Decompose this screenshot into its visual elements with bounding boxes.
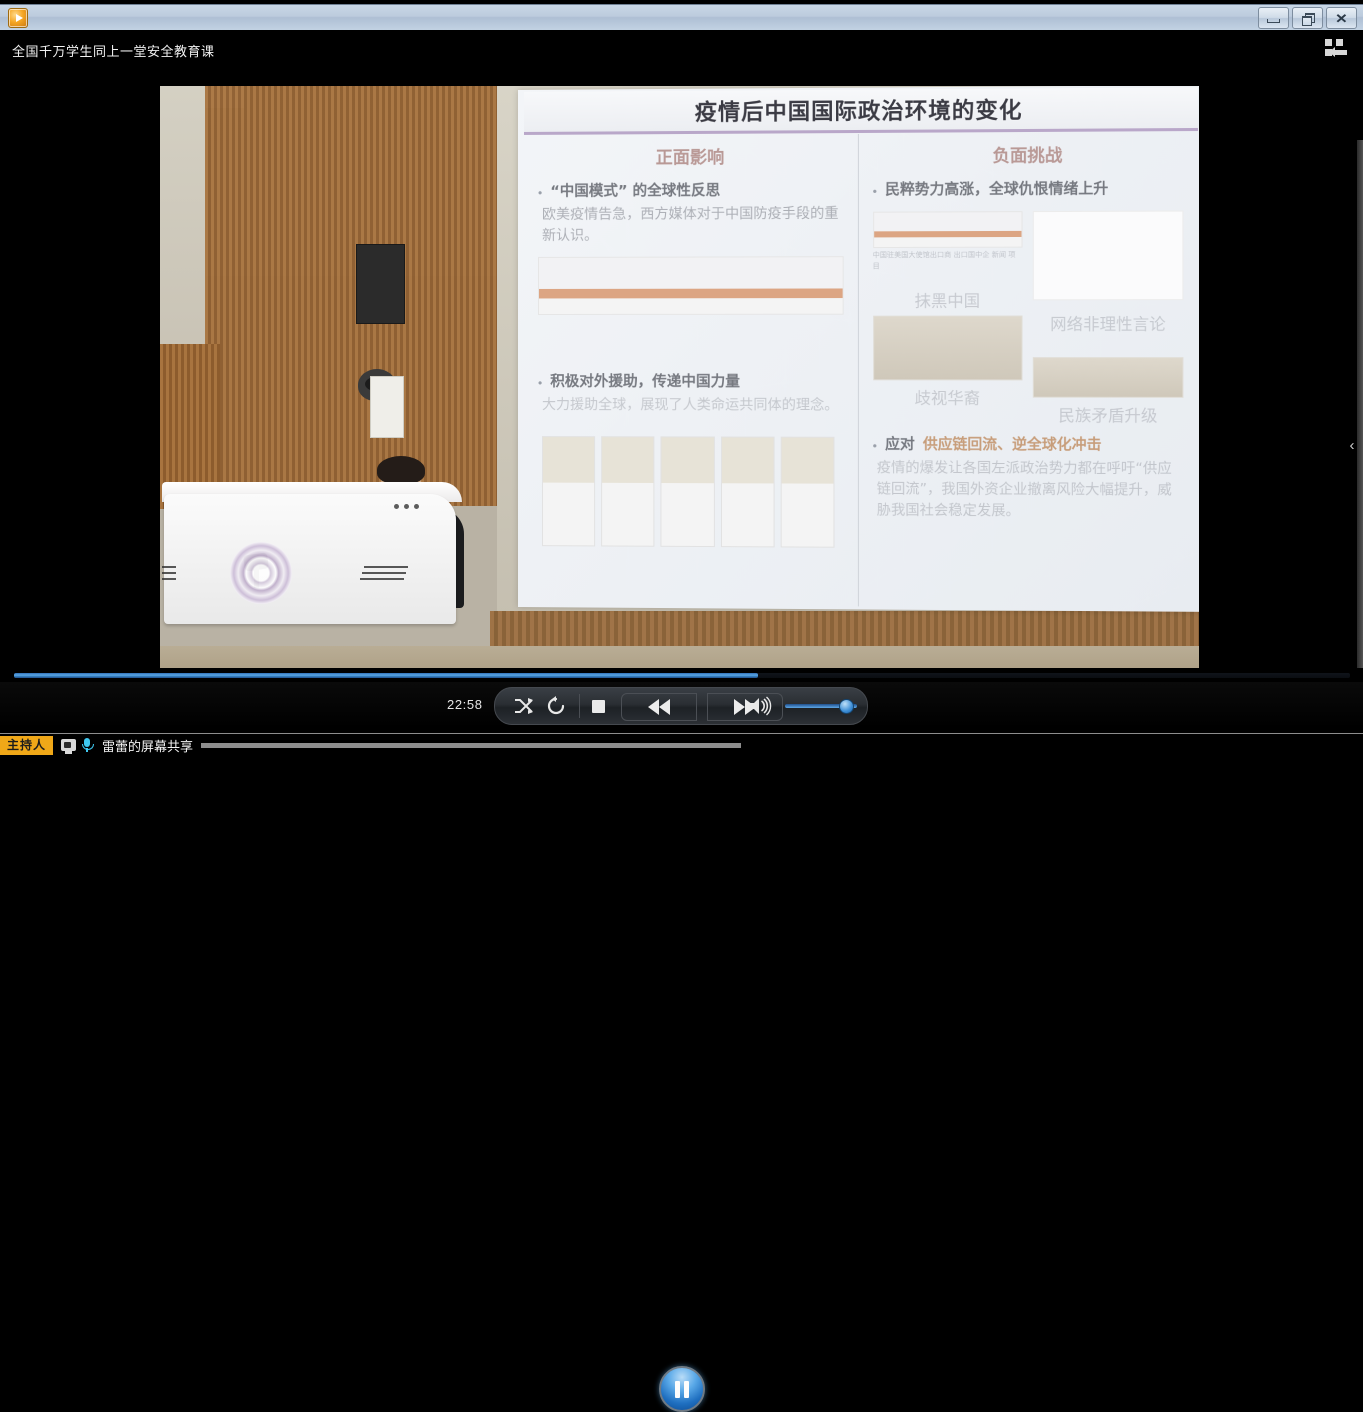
play-pause-button[interactable]	[659, 1366, 705, 1412]
slide-right-bullet-1: • 民粹势力高涨，全球仇恨情绪上升	[873, 180, 1184, 202]
slide-columns: 正面影响 • “中国模式” 的全球性反思 欧美疫情告急，西方媒体对于中国防疫手段…	[524, 132, 1198, 609]
stop-icon[interactable]	[587, 697, 609, 715]
seek-track[interactable]	[14, 673, 1350, 678]
video-stage[interactable]: 疫情后中国国际政治环境的变化 正面影响 • “中国模式” 的全球性反思 欧美疫情…	[0, 70, 1363, 668]
screenshot-block	[1033, 211, 1184, 301]
slide-title: 疫情后中国国际政治环境的变化	[695, 93, 1023, 127]
university-emblem	[230, 542, 292, 604]
share-label: 雷蕾的屏幕共享	[102, 736, 193, 755]
shuffle-glyph	[514, 697, 534, 715]
podium-stripes-left	[162, 566, 178, 584]
podium-group	[164, 446, 464, 668]
wall-wainscot	[490, 611, 1199, 651]
slide-right-media-right: 网络非理性言论 民族矛盾升级	[1033, 211, 1184, 427]
mic-stem-shape	[86, 748, 88, 752]
slide-right-bullet-2-detail: 疫情的爆发让各国左派政治势力都在呼吁“供应链回流”，我国外资企业撤离风险大幅提升…	[877, 458, 1184, 523]
photo-card	[542, 436, 595, 546]
slide-left-bullet-2: • 积极对外援助，传递中国力量	[538, 373, 843, 393]
shuffle-icon[interactable]	[513, 696, 535, 716]
play-triangle-shape	[16, 14, 23, 22]
rewind-icon	[648, 699, 670, 715]
seek-progress-fill	[14, 673, 758, 678]
media-header-bar: 全国千万学生同上一堂安全教育课	[0, 30, 1363, 70]
chevron-left-icon[interactable]: ‹	[1345, 432, 1359, 458]
slide-left-column: 正面影响 • “中国模式” 的全球性反思 欧美疫情告急，西方媒体对于中国防疫手段…	[524, 134, 858, 606]
slide-left-bullet-1: • “中国模式” 的全球性反思	[538, 182, 843, 203]
arrow-left-shape	[1334, 50, 1347, 55]
slide-right-caption-3: 歧视华裔	[873, 384, 1023, 408]
share-bar-strip	[201, 743, 741, 748]
bullet-dot-icon: •	[873, 436, 877, 456]
monitor-share-icon	[61, 739, 76, 751]
repeat-glyph	[546, 696, 566, 716]
photo-card	[721, 436, 775, 547]
slide-right-caption-1: 抹黑中国	[873, 287, 1023, 311]
wall-control-plate	[370, 376, 404, 438]
volume-icon[interactable]	[747, 695, 773, 717]
projected-slide: 疫情后中国国际政治环境的变化 正面影响 • “中国模式” 的全球性反思 欧美疫情…	[518, 86, 1199, 612]
seek-bar-area[interactable]	[0, 668, 1363, 682]
microphone-icon	[81, 738, 93, 752]
photo-block	[873, 316, 1023, 381]
slide-left-photo-strip	[542, 436, 834, 548]
controls-divider	[579, 694, 580, 718]
close-button[interactable]: ✕	[1326, 7, 1357, 29]
repeat-icon[interactable]	[545, 696, 567, 716]
slide-right-media-left: 中国驻美国大使馆出口商 出口国中企 新闻 项目 抹黑中国 歧视华裔	[873, 211, 1023, 426]
close-icon: ✕	[1335, 12, 1348, 25]
slide-left-bullet-1-text: “中国模式” 的全球性反思	[550, 182, 720, 202]
window-controls: ✕	[1258, 7, 1357, 29]
slide-right-column: 负面挑战 • 民粹势力高涨，全球仇恨情绪上升 中国驻美国大使馆出口商 出口国中企…	[858, 132, 1198, 609]
photo-card	[780, 437, 834, 548]
slide-right-bullet-1-text: 民粹势力高涨，全球仇恨情绪上升	[885, 180, 1108, 201]
slide-right-caption-4: 民族矛盾升级	[1033, 402, 1184, 427]
slide-right-media-row-1: 中国驻美国大使馆出口商 出口国中企 新闻 项目 抹黑中国 歧视华裔 网络非理性言…	[873, 211, 1184, 427]
presenter-hair	[377, 456, 425, 484]
slide-right-bullet-2-accent: 供应链回流、逆全球化冲击	[923, 436, 1102, 456]
podium-body	[164, 494, 456, 624]
restore-icon	[1302, 13, 1314, 24]
photo-block	[1033, 357, 1184, 398]
slide-left-bullet-2-detail: 大力援助全球，展现了人类命运共同体的理念。	[542, 395, 843, 417]
slide-left-heading: 正面影响	[538, 142, 843, 169]
video-frame[interactable]: 疫情后中国国际政治环境的变化 正面影响 • “中国模式” 的全球性反思 欧美疫情…	[160, 86, 1199, 668]
transport-controls-group	[494, 687, 868, 725]
screen-share-bar: 主持人 雷蕾的屏幕共享	[0, 734, 1363, 756]
host-badge: 主持人	[0, 736, 53, 755]
time-elapsed-readout: 22:58	[447, 697, 483, 712]
slide-right-heading: 负面挑战	[873, 140, 1184, 167]
minimize-icon	[1267, 19, 1280, 23]
news-banner	[873, 211, 1023, 248]
photo-card	[601, 436, 654, 547]
monitor-screen-shape	[64, 742, 71, 748]
podium-control-dots	[394, 504, 440, 512]
wall-left	[160, 86, 206, 386]
slide-right-caption-2: 网络非理性言论	[1033, 310, 1184, 334]
slide-left-photo-banner	[538, 256, 843, 315]
pause-icon	[675, 1381, 689, 1398]
slide-title-band: 疫情后中国国际政治环境的变化	[524, 87, 1198, 135]
volume-slider[interactable]	[785, 703, 857, 709]
slide-right-doc-caption: 中国驻美国大使馆出口商 出口国中企 新闻 项目	[873, 250, 1023, 272]
wall-speaker	[356, 244, 405, 324]
media-title: 全国千万学生同上一堂安全教育课	[12, 41, 215, 60]
switch-to-library-icon[interactable]	[1323, 38, 1349, 60]
previous-button[interactable]	[621, 693, 697, 721]
slide-left-bullet-1-detail: 欧美疫情告急，西方媒体对于中国防疫手段的重新认识。	[542, 204, 843, 247]
slide-left-bullet-2-text: 积极对外援助，传递中国力量	[550, 373, 740, 393]
photo-card	[661, 436, 715, 547]
title-bar-spacer	[0, 17, 8, 18]
minimize-button[interactable]	[1258, 7, 1289, 29]
media-player-window: ✕ 全国千万学生同上一堂安全教育课	[0, 0, 1363, 756]
stop-square-shape	[592, 700, 605, 713]
player-controls-bar: 22:58	[0, 682, 1363, 728]
speaker-glyph	[748, 696, 772, 716]
grid-square-2	[1336, 39, 1343, 46]
mic-arc-shape	[82, 744, 94, 750]
restore-button[interactable]	[1292, 7, 1323, 29]
bullet-dot-icon: •	[538, 373, 542, 393]
slide-right-bullet-2-prefix: 应对	[885, 436, 915, 456]
wood-wall-panel	[205, 86, 497, 506]
podium-stripes-right	[360, 566, 408, 584]
share-icons-group	[61, 738, 93, 752]
bullet-dot-icon: •	[873, 181, 877, 201]
media-player-play-icon	[8, 8, 28, 28]
grid-square-1	[1325, 39, 1332, 46]
slide-right-bullet-2: • 应对 供应链回流、逆全球化冲击	[873, 436, 1184, 457]
bullet-dot-icon: •	[538, 183, 542, 203]
volume-thumb[interactable]	[839, 699, 854, 714]
title-bar: ✕	[0, 4, 1363, 30]
